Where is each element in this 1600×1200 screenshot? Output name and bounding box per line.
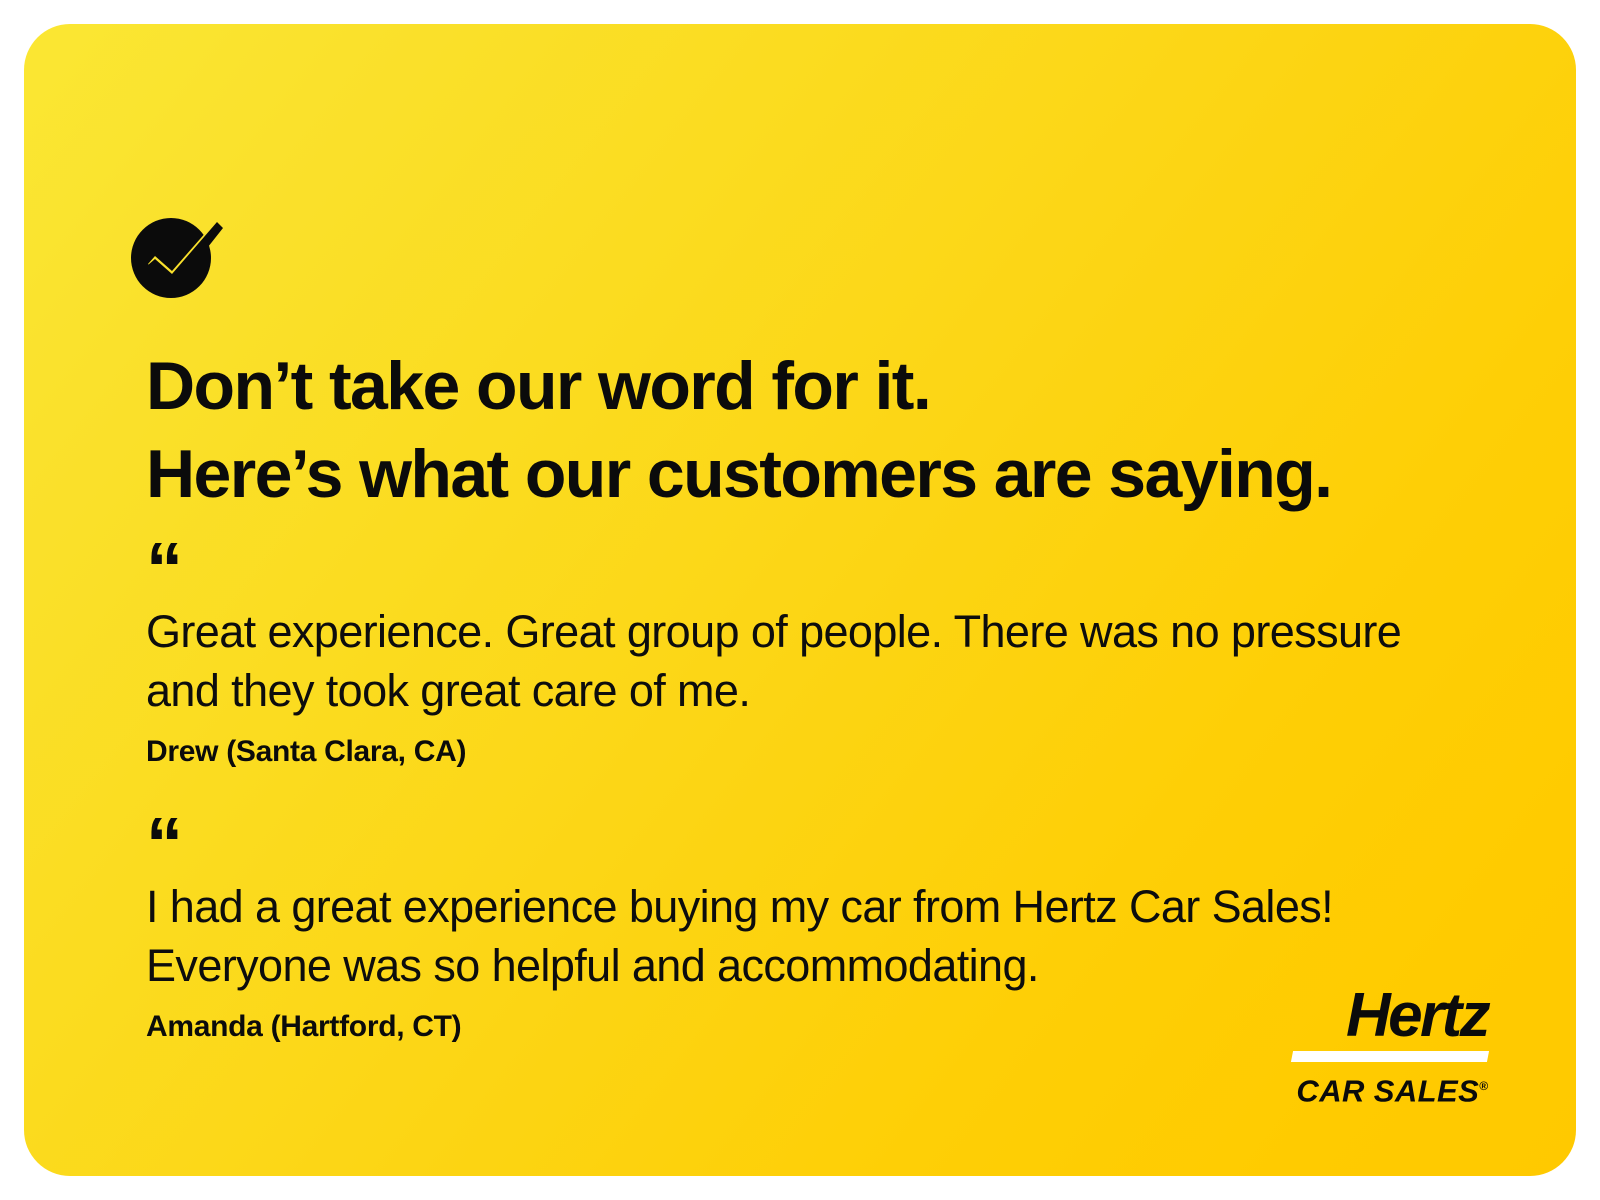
logo-subtitle-text: CAR SALES [1296,1073,1479,1108]
testimonial-card: Don’t take our word for it. Here’s what … [24,24,1576,1176]
testimonial-quote: Great experience. Great group of people.… [146,602,1476,720]
hertz-car-sales-logo: Hertz CAR SALES® [1258,984,1488,1108]
quote-mark-icon: “ [146,827,1506,863]
logo-underline-bar [1291,1051,1489,1062]
headline-line-1: Don’t take our word for it. [146,342,1496,430]
testimonial-item: “ Great experience. Great group of peopl… [146,552,1506,771]
testimonial-attribution: Drew (Santa Clara, CA) [146,733,1506,771]
testimonial-quote: I had a great experience buying my car f… [146,877,1476,995]
headline-line-2: Here’s what our customers are saying. [146,430,1496,518]
registered-mark: ® [1479,1079,1488,1093]
logo-subtitle: CAR SALES® [1258,1069,1488,1108]
logo-wordmark: Hertz [1258,984,1488,1048]
page-title: Don’t take our word for it. Here’s what … [146,342,1496,518]
quote-mark-icon: “ [146,552,1506,588]
testimonial-list: “ Great experience. Great group of peopl… [146,552,1506,1046]
check-circle-icon [122,206,232,316]
